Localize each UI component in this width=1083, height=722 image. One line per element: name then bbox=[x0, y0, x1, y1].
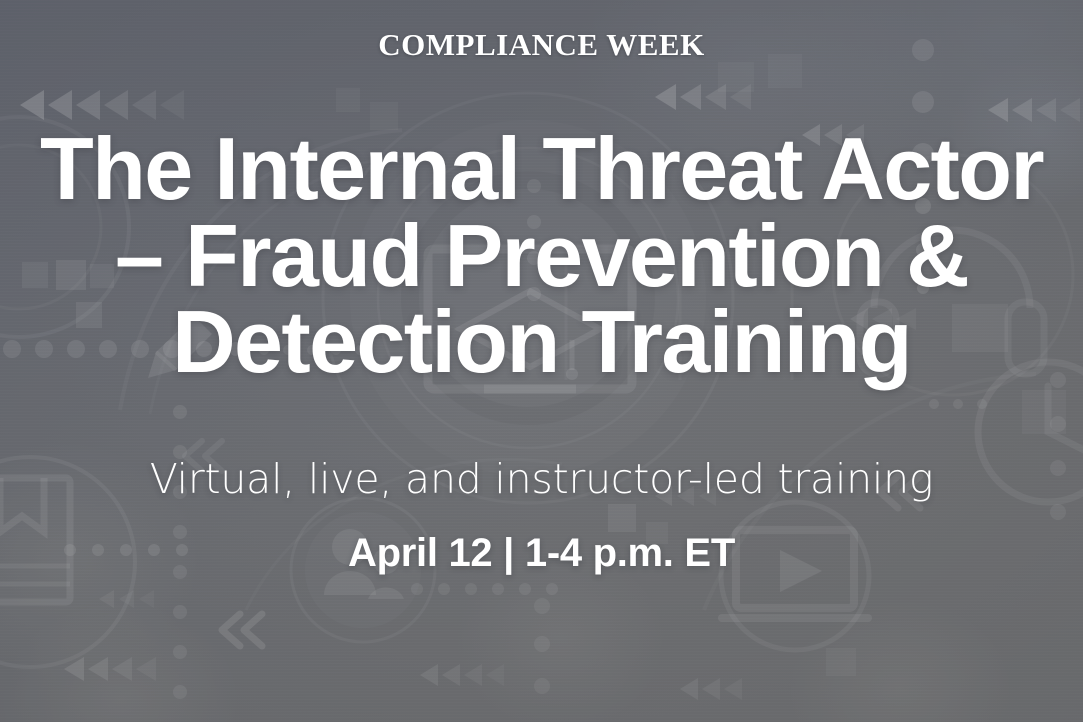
event-datetime-line: April 12 | 1-4 p.m. ET bbox=[348, 531, 735, 575]
event-title: The Internal Threat Actor – Fraud Preven… bbox=[12, 126, 1072, 386]
event-title-line-1: The Internal Threat Actor bbox=[12, 126, 1072, 213]
compliance-week-logo: COMPLIANCE WEEK bbox=[378, 29, 704, 60]
banner-content: COMPLIANCE WEEK The Internal Threat Acto… bbox=[0, 0, 1083, 722]
event-title-line-2: – Fraud Prevention & bbox=[12, 213, 1072, 300]
event-title-line-3: Detection Training bbox=[12, 299, 1072, 386]
event-format-line: Virtual, live, and instructor-led traini… bbox=[150, 457, 934, 502]
event-promo-banner: COMPLIANCE WEEK The Internal Threat Acto… bbox=[0, 0, 1083, 722]
